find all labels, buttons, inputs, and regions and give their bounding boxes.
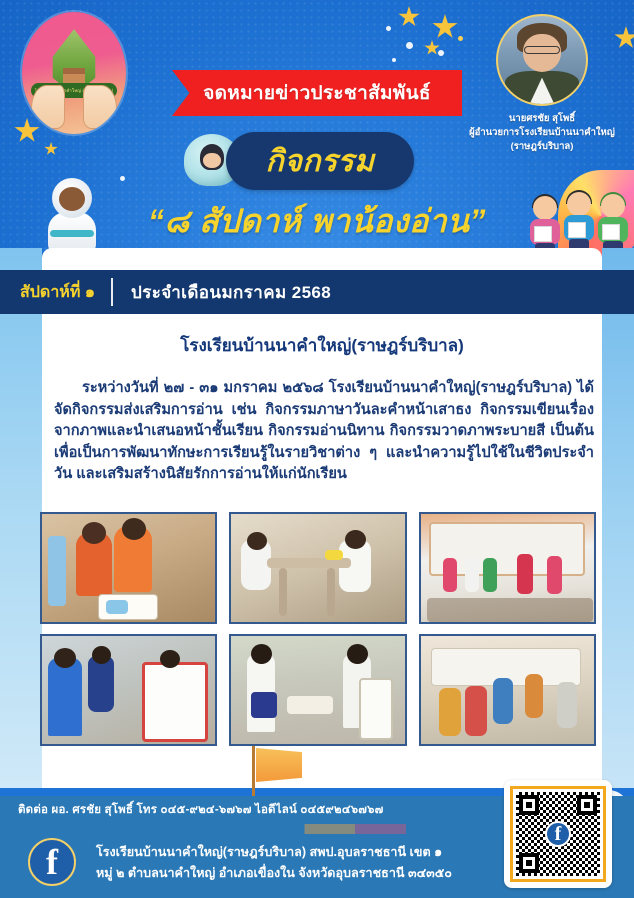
week-bar: สัปดาห์ที่ ๑ ประจำเดือนมกราคม 2568: [0, 270, 634, 314]
flag-icon: [256, 748, 302, 782]
sparkle-dot: [406, 42, 413, 49]
footer-address: โรงเรียนบ้านนาคำใหญ่(ราษฎร์บริบาล) สพป.อ…: [96, 842, 452, 884]
sparkle-dot: [386, 26, 391, 31]
activity-description: ระหว่างวันที่ ๒๗ - ๓๑ มกราคม ๒๕๖๘ โรงเรี…: [54, 378, 594, 486]
month-label: ประจำเดือนมกราคม 2568: [113, 279, 331, 306]
activity-pill: กิจกรรม: [226, 132, 414, 190]
activity-photo: [40, 512, 217, 624]
director-suffix: (ราษฎร์บริบาล): [468, 140, 616, 154]
sparkle-dot: [120, 176, 125, 181]
newsletter-poster: โรงเรียนบ้านนาคำใหญ่ (ราษฎร์บริบาล): [0, 0, 634, 898]
logo-hands-icon: [31, 83, 117, 129]
sparkle-dot: [392, 58, 396, 62]
director-block: นายศรชัย สุโพธิ์ ผู้อำนวยการโรงเรียนบ้าน…: [468, 14, 616, 154]
director-photo: [496, 14, 588, 106]
right-decor-strip: [602, 248, 634, 788]
school-name-title: โรงเรียนบ้านนาคำใหญ่(ราษฎร์บริบาล): [42, 332, 602, 359]
logo-house-icon: [63, 68, 85, 83]
activity-photo: [419, 512, 596, 624]
week-divider: [111, 278, 113, 306]
activity-photo: [419, 634, 596, 746]
logo-hand-left: [31, 85, 65, 129]
facebook-icon-letter: f: [46, 844, 58, 880]
school-logo-circle: โรงเรียนบ้านนาคำใหญ่ (ราษฎร์บริบาล): [22, 12, 126, 134]
logo-hand-right: [83, 85, 117, 129]
address-line-1: โรงเรียนบ้านนาคำใหญ่(ราษฎร์บริบาล) สพป.อ…: [96, 842, 452, 863]
newsletter-ribbon: จดหมายข่าวประชาสัมพันธ์: [172, 70, 462, 116]
header-banner: โรงเรียนบ้านนาคำใหญ่ (ราษฎร์บริบาล): [0, 0, 634, 262]
sparkle-dot: [458, 36, 463, 41]
activity-photo: [229, 634, 406, 746]
school-logo: โรงเรียนบ้านนาคำใหญ่ (ราษฎร์บริบาล): [22, 12, 126, 134]
qr-code-card[interactable]: f: [504, 780, 612, 888]
qr-facebook-letter: f: [555, 824, 562, 844]
address-line-2: หมู่ ๒ ตำบลนาคำใหญ่ อำเภอเขื่องใน จังหวั…: [96, 863, 452, 884]
activity-pill-label: กิจกรรม: [266, 138, 375, 185]
facebook-icon[interactable]: f: [28, 838, 76, 886]
left-decor-strip: [0, 248, 42, 788]
activity-photo: [40, 634, 217, 746]
director-name: นายศรชัย สุโพธิ์: [468, 112, 616, 126]
qr-code[interactable]: f: [510, 786, 606, 882]
qr-finder-bottomleft: [519, 853, 539, 873]
director-glasses-icon: [524, 46, 559, 54]
photo-grid: [40, 512, 596, 746]
activity-photo: [229, 512, 406, 624]
qr-finder-topleft: [519, 795, 539, 815]
flag-pole: [252, 742, 255, 800]
qr-facebook-badge: f: [545, 821, 571, 847]
ribbon-title: จดหมายข่าวประชาสัมพันธ์: [203, 78, 431, 108]
qr-finder-topright: [577, 795, 597, 815]
campaign-headline: “๘ สัปดาห์ พาน้องอ่าน”: [0, 196, 634, 247]
contact-line: ติดต่อ ผอ. ศรชัย สุโพธิ์ โทร ๐๔๕-๙๒๔-๖๗๖…: [0, 801, 383, 819]
sparkle-dot: [438, 50, 444, 56]
director-caption: นายศรชัย สุโพธิ์ ผู้อำนวยการโรงเรียนบ้าน…: [468, 112, 616, 154]
week-badge: สัปดาห์ที่ ๑: [0, 280, 111, 305]
director-position: ผู้อำนวยการโรงเรียนบ้านนาคำใหญ่: [468, 126, 616, 140]
